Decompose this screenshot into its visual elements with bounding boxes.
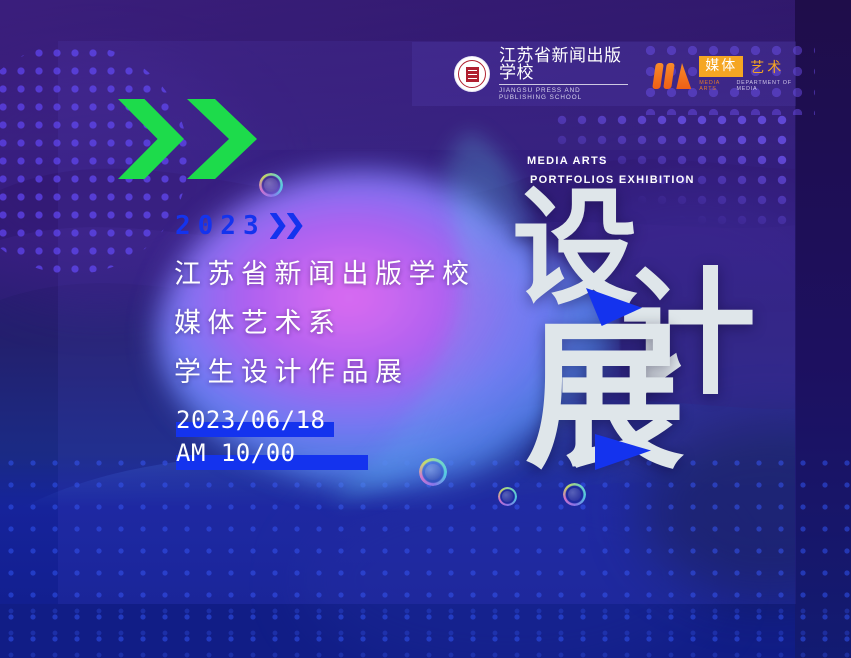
poster-canvas: 江苏省新闻出版学校 JIANGSU PRESS AND PUBLISHING S… <box>0 0 851 658</box>
english-subtitle-line-1: MEDIA ARTS <box>527 152 695 171</box>
header-bar: 江苏省新闻出版学校 JIANGSU PRESS AND PUBLISHING S… <box>412 42 796 106</box>
big-character-she: 设 <box>512 186 634 312</box>
department-word-plain: 艺术 <box>750 57 784 77</box>
title-line-1: 江苏省新闻出版学校 <box>174 250 476 299</box>
title-line-3: 学生设计作品展 <box>174 348 476 397</box>
iridescent-bubble-icon <box>498 487 517 506</box>
school-name-cn: 江苏省新闻出版学校 <box>499 47 628 85</box>
department-logo: 媒体 艺术 MEDIA ARTS DEPARTMENT OF MEDIA <box>654 56 796 92</box>
iridescent-bubble-icon <box>419 458 447 486</box>
school-logo: 江苏省新闻出版学校 JIANGSU PRESS AND PUBLISHING S… <box>454 47 628 100</box>
double-chevron-blue-icon <box>270 213 303 239</box>
dot-grid-footer-icon <box>0 600 851 658</box>
double-chevron-green-icon <box>118 99 257 179</box>
year-label: 2023 <box>175 211 266 241</box>
date-label: 2023/06/18 <box>176 406 326 434</box>
title-line-2: 媒体艺术系 <box>174 299 476 348</box>
department-en-left: MEDIA ARTS <box>699 80 729 92</box>
department-word-box: 媒体 <box>699 56 743 77</box>
department-en-right: DEPARTMENT OF MEDIA <box>737 80 797 92</box>
media-arts-mark-icon <box>654 59 692 89</box>
time-label: AM 10/00 <box>176 439 296 467</box>
datetime-block: 2023/06/18 AM 10/00 <box>176 406 326 472</box>
iridescent-bubble-icon <box>259 173 283 197</box>
iridescent-bubble-icon <box>563 483 586 506</box>
year-row: 2023 <box>175 211 303 241</box>
title-block: 江苏省新闻出版学校 媒体艺术系 学生设计作品展 <box>174 250 476 397</box>
school-name-en: JIANGSU PRESS AND PUBLISHING SCHOOL <box>499 88 631 100</box>
school-crest-icon <box>454 56 490 92</box>
